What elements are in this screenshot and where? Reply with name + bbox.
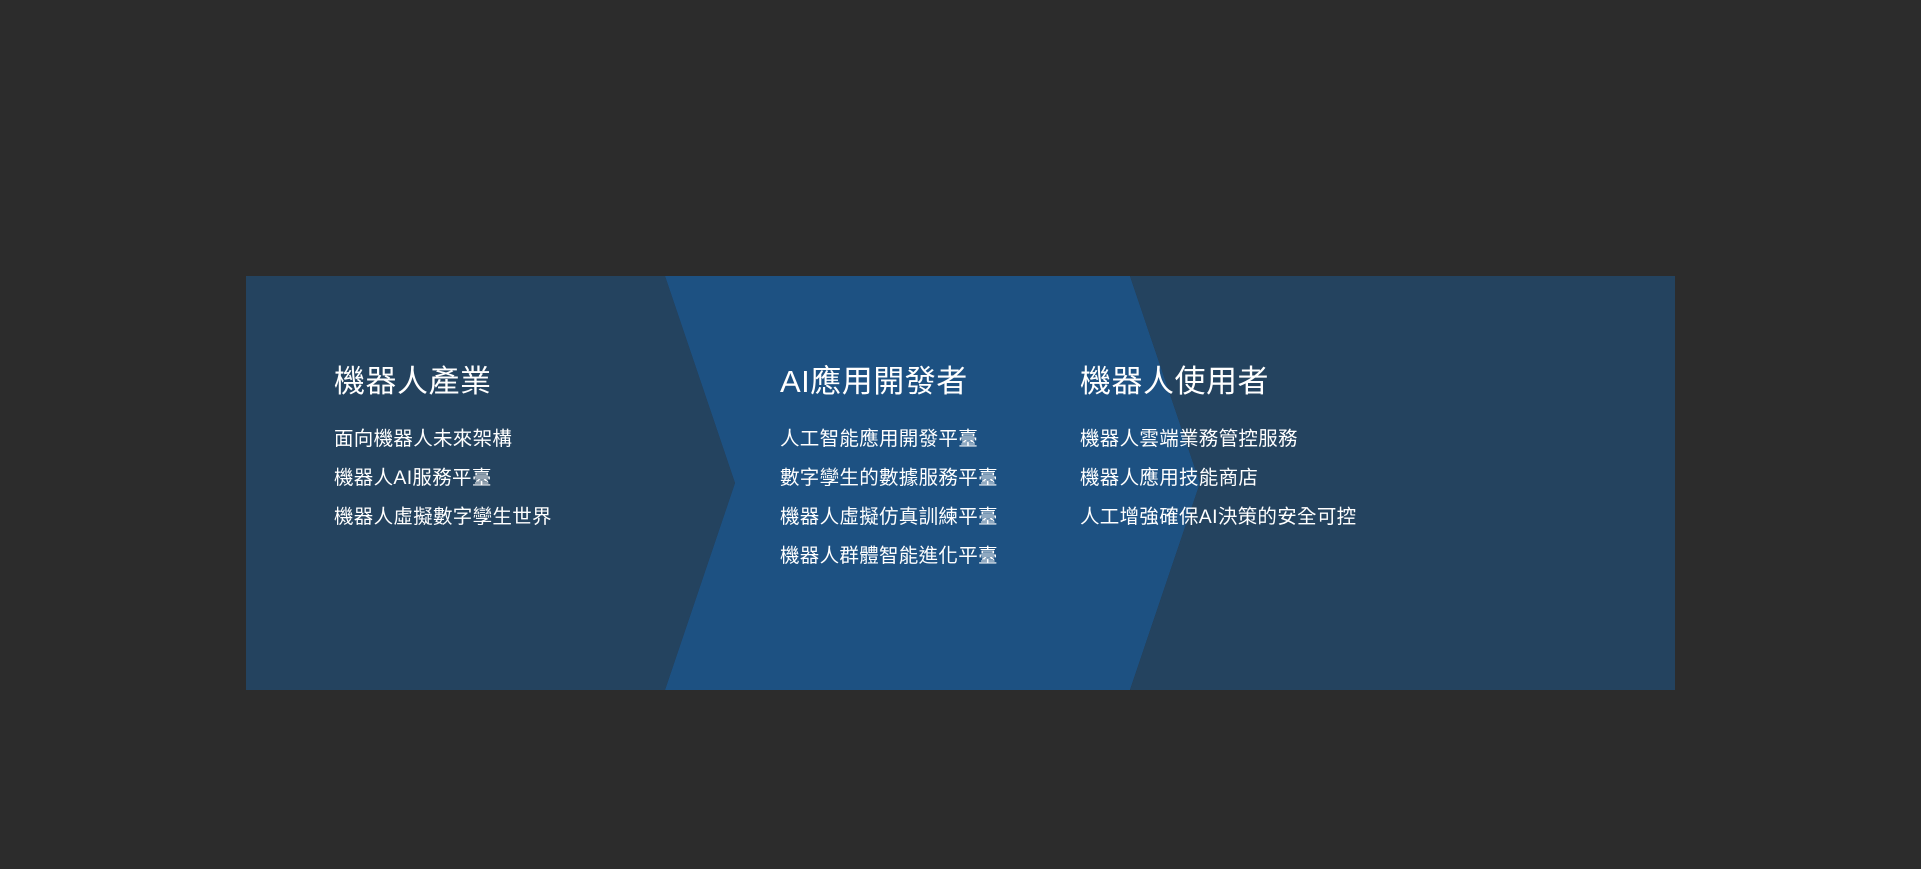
- list-item: 數字孿生的數據服務平臺: [780, 469, 998, 489]
- list-item: 機器人雲端業務管控服務: [1080, 430, 1356, 450]
- column-heading-robot-user: 機器人使用者: [1080, 364, 1269, 400]
- column-heading-ai-app-developer: AI應用開發者: [780, 364, 968, 400]
- column-list-robot-user: 機器人雲端業務管控服務 機器人應用技能商店 人工增強確保AI決策的安全可控: [1080, 430, 1356, 528]
- list-item: 機器人AI服務平臺: [334, 469, 552, 489]
- three-stage-chevron-banner: 機器人產業 面向機器人未來架構 機器人AI服務平臺 機器人虛擬數字孿生世界 AI…: [246, 276, 1675, 690]
- column-list-robot-industry: 面向機器人未來架構 機器人AI服務平臺 機器人虛擬數字孿生世界: [334, 430, 552, 528]
- list-item: 人工增強確保AI決策的安全可控: [1080, 508, 1356, 528]
- list-item: 機器人應用技能商店: [1080, 469, 1356, 489]
- column-list-ai-app-developer: 人工智能應用開發平臺 數字孿生的數據服務平臺 機器人虛擬仿真訓練平臺 機器人群體…: [780, 430, 998, 567]
- list-item: 機器人虛擬數字孿生世界: [334, 508, 552, 528]
- list-item: 面向機器人未來架構: [334, 430, 552, 450]
- column-group: 機器人產業 面向機器人未來架構 機器人AI服務平臺 機器人虛擬數字孿生世界 AI…: [246, 276, 1675, 690]
- list-item: 人工智能應用開發平臺: [780, 430, 998, 450]
- column-heading-robot-industry: 機器人產業: [334, 364, 492, 400]
- list-item: 機器人群體智能進化平臺: [780, 547, 998, 567]
- list-item: 機器人虛擬仿真訓練平臺: [780, 508, 998, 528]
- slide-canvas: 機器人產業 面向機器人未來架構 機器人AI服務平臺 機器人虛擬數字孿生世界 AI…: [0, 0, 1921, 869]
